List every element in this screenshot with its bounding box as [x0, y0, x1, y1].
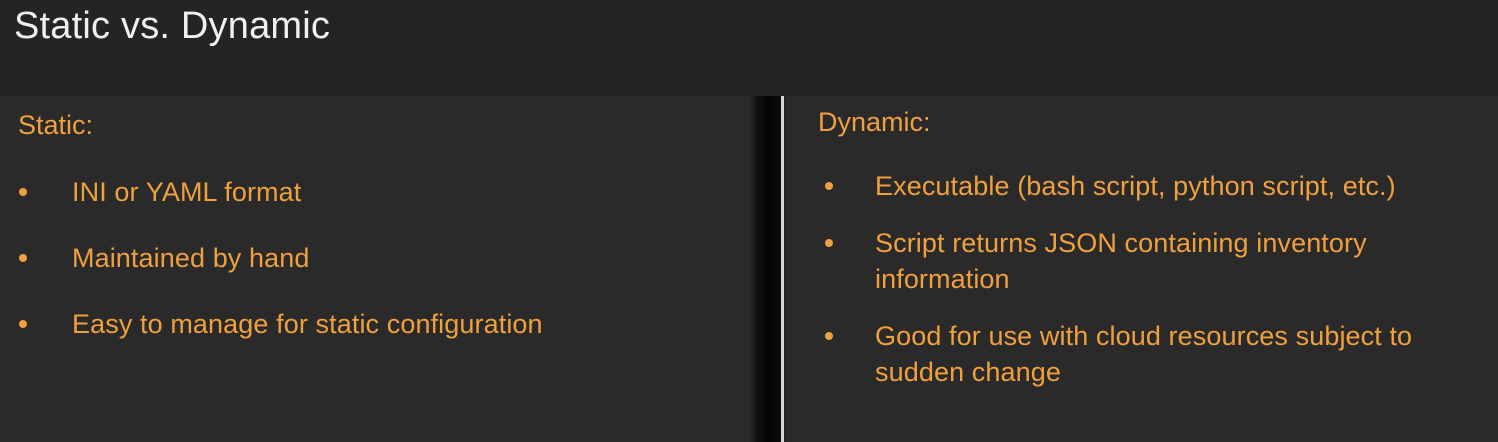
bullet-dot-icon [19, 254, 27, 262]
panel-static: Static: INI or YAML format Maintained by… [0, 96, 756, 442]
bullet-dot-icon [825, 332, 833, 340]
list-item-label: Good for use with cloud resources subjec… [875, 318, 1485, 390]
panel-dynamic: Dynamic: Executable (bash script, python… [785, 96, 1498, 442]
bullet-dot-icon [19, 320, 27, 328]
page-title: Static vs. Dynamic [14, 4, 330, 48]
bullet-dot-icon [825, 182, 833, 190]
list-item: Easy to manage for static configuration [0, 306, 740, 342]
list-item: Script returns JSON containing inventory… [785, 225, 1485, 297]
bullet-dot-icon [825, 239, 833, 247]
content-area: Static: INI or YAML format Maintained by… [0, 96, 1498, 442]
list-item-label: Executable (bash script, python script, … [875, 168, 1485, 204]
slide: Static vs. Dynamic Static: INI or YAML f… [0, 0, 1498, 442]
column-divider [781, 96, 784, 442]
list-item-label: Script returns JSON containing inventory… [875, 225, 1485, 297]
bullet-list-static: INI or YAML format Maintained by hand Ea… [0, 174, 740, 372]
list-item-label: Easy to manage for static configuration [72, 306, 740, 342]
column-heading-static: Static: [18, 109, 93, 141]
panel-gap-shadow [750, 96, 781, 442]
list-item: Executable (bash script, python script, … [785, 168, 1485, 204]
list-item-label: Maintained by hand [72, 240, 740, 276]
list-item-label: INI or YAML format [72, 174, 740, 210]
bullet-list-dynamic: Executable (bash script, python script, … [785, 168, 1485, 411]
list-item: Maintained by hand [0, 240, 740, 276]
column-heading-dynamic: Dynamic: [818, 106, 931, 138]
list-item: Good for use with cloud resources subjec… [785, 318, 1485, 390]
list-item: INI or YAML format [0, 174, 740, 210]
bullet-dot-icon [19, 188, 27, 196]
